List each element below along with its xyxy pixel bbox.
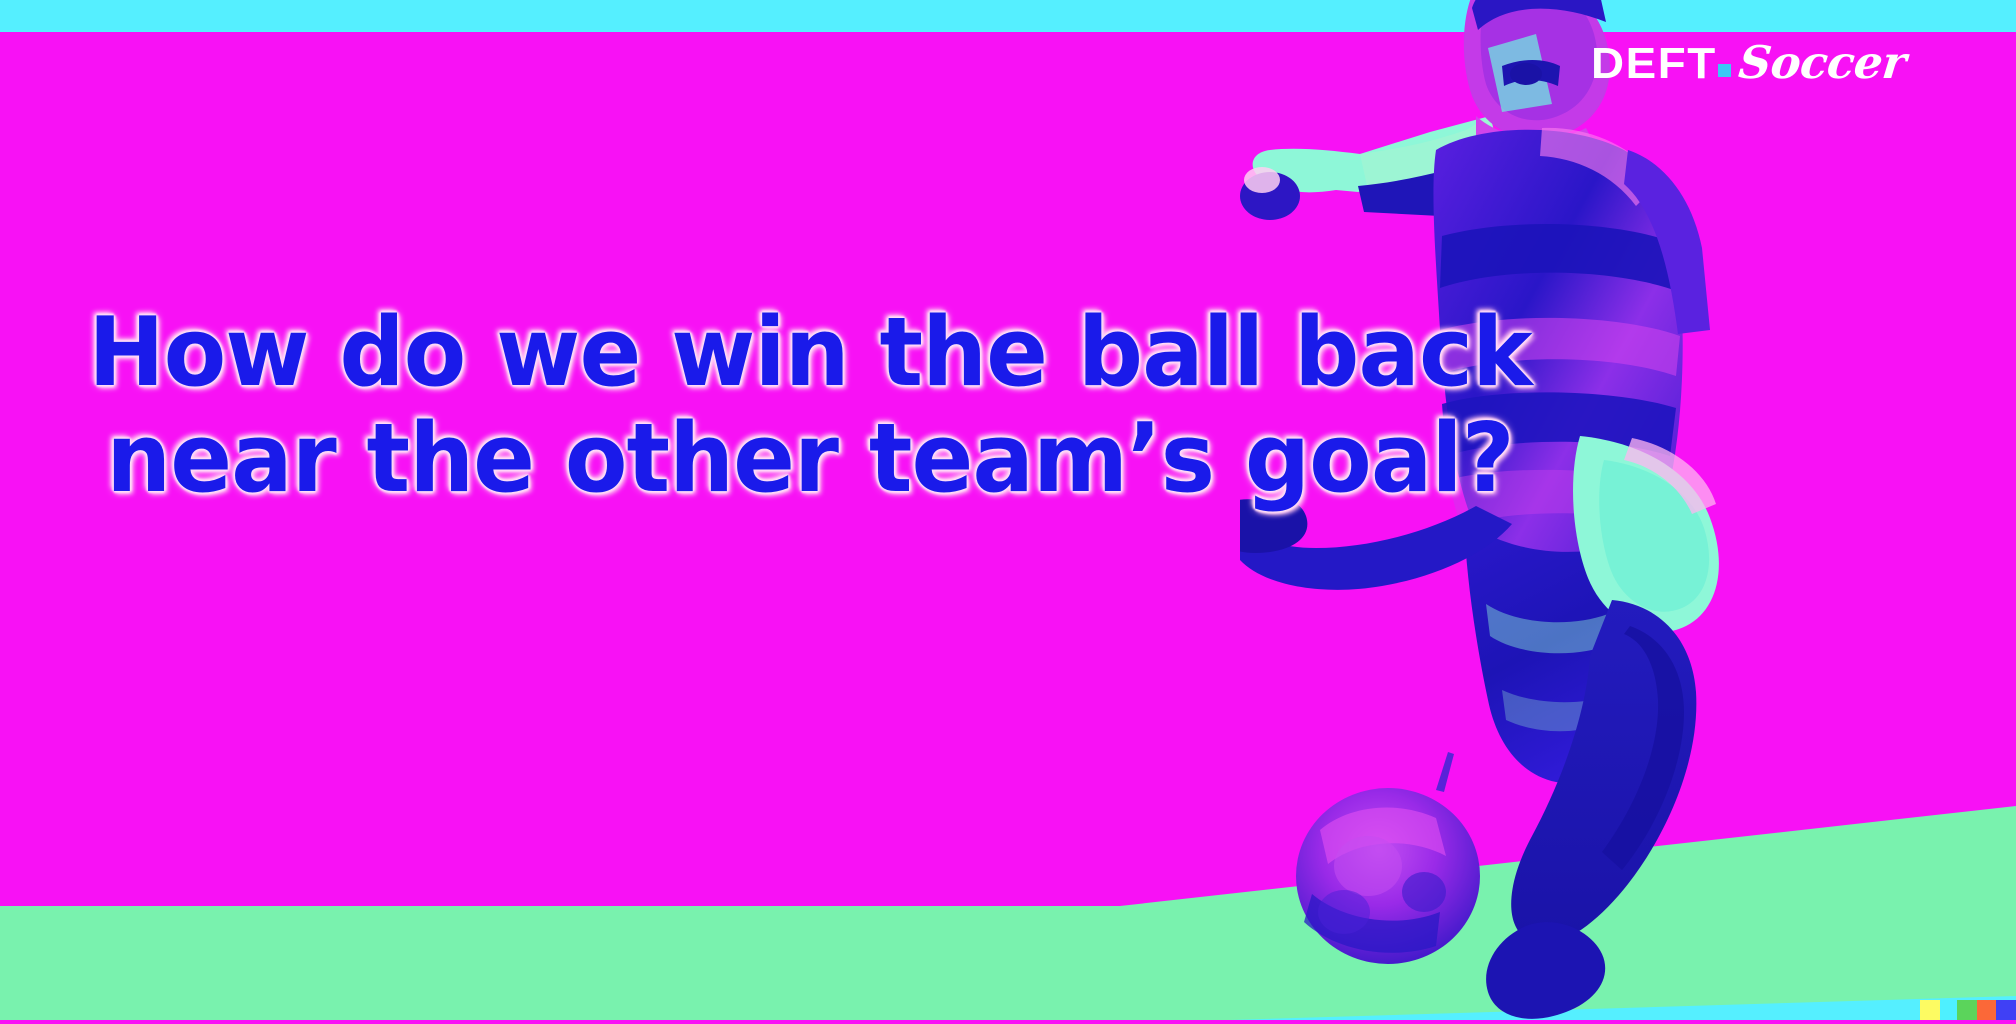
- slide-canvas: DEFT Soccer How do we win the ball back …: [0, 0, 2016, 1024]
- swatch-blue: [1996, 1000, 2016, 1020]
- brand-logo-dot-icon: [1718, 64, 1731, 77]
- soccer-ball: [1296, 752, 1480, 964]
- swatch-yellow: [1920, 1000, 1940, 1020]
- brand-logo-primary: DEFT: [1591, 42, 1717, 86]
- player-back-boot: [1240, 499, 1307, 553]
- brand-logo[interactable]: DEFT Soccer: [1591, 40, 1906, 86]
- swatch-orange: [1977, 1000, 1996, 1020]
- color-swatch-strip: [1920, 1000, 2016, 1020]
- brand-logo-secondary: Soccer: [1737, 40, 1908, 85]
- player-front-boot: [1486, 922, 1605, 1019]
- swatch-cyan: [1940, 1000, 1957, 1020]
- soccer-player-artwork: [1240, 0, 1940, 1024]
- swatch-green: [1957, 1000, 1977, 1020]
